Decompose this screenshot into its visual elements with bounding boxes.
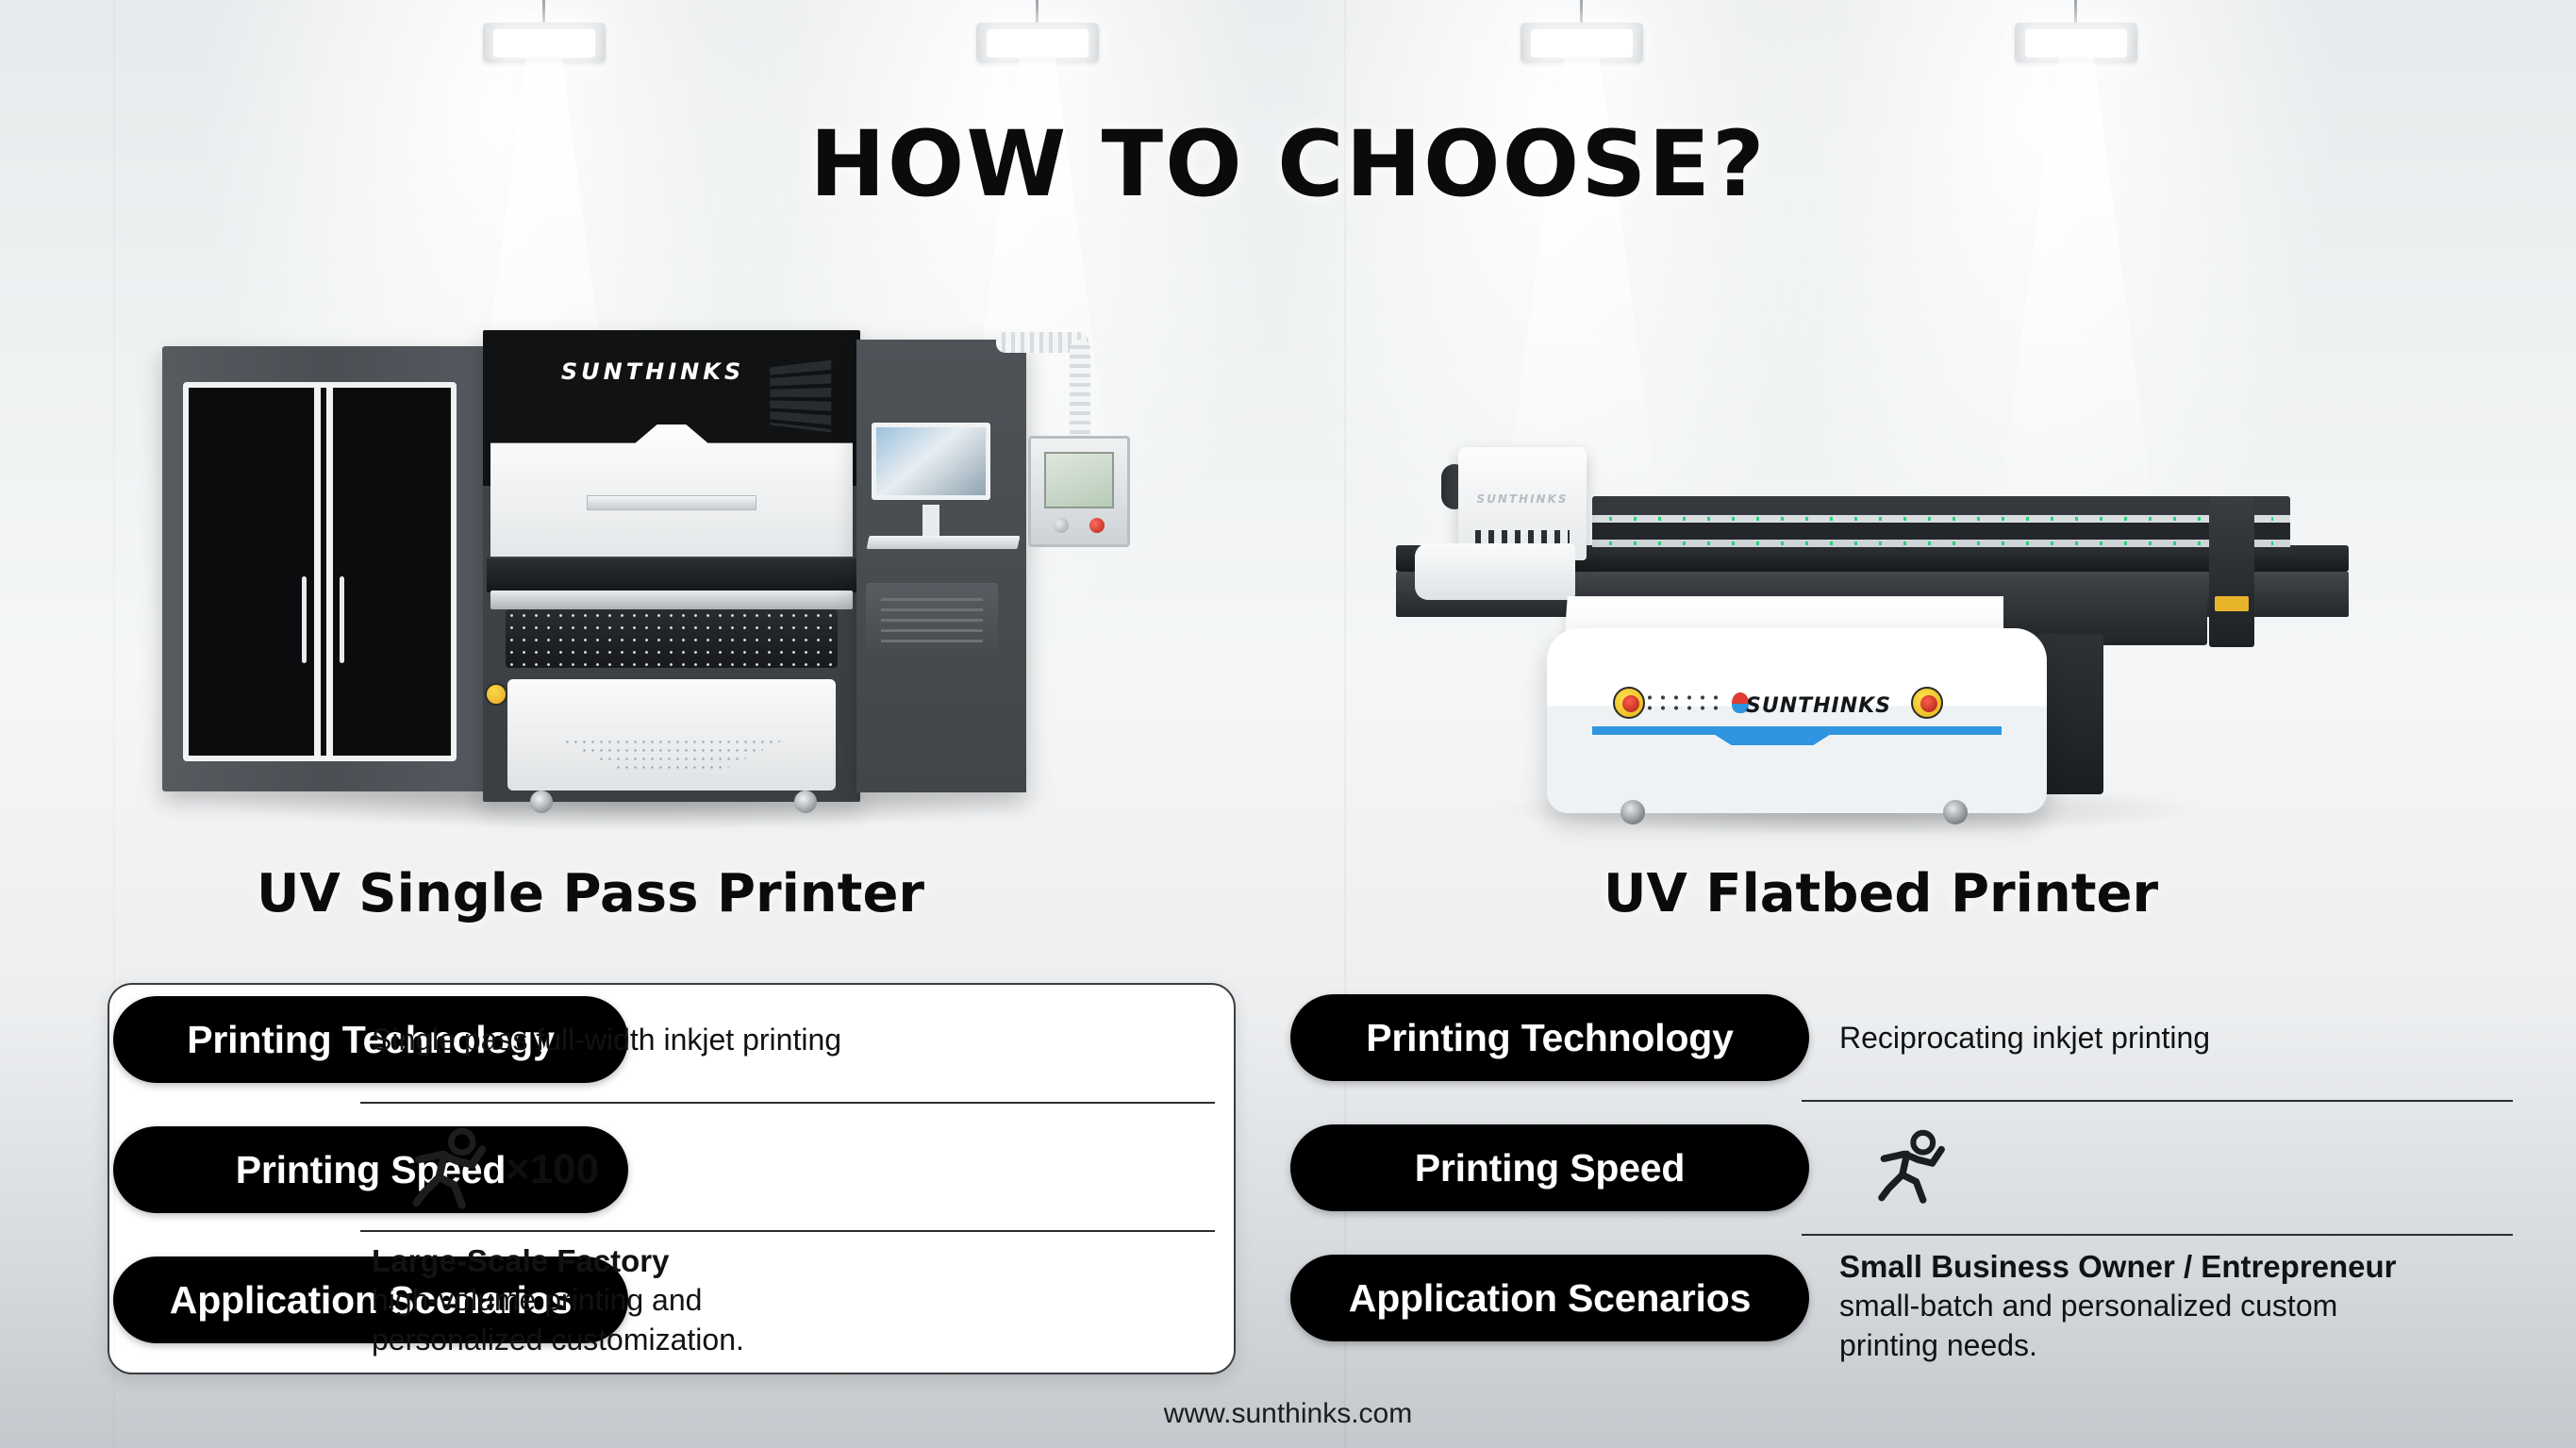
glass-doors <box>183 382 457 761</box>
spec-key-printing-speed[interactable]: Printing Speed <box>1290 1124 1809 1211</box>
control-panel-screen <box>1044 452 1114 508</box>
spec-divider <box>360 1102 1215 1104</box>
operator-monitor <box>872 423 990 500</box>
warning-label <box>2215 596 2249 611</box>
gantry-endcap <box>2209 496 2254 647</box>
emergency-stop-icon <box>1089 518 1105 533</box>
spec-card-left: Printing Technology Single pass full-wid… <box>108 983 1236 1374</box>
printer-main-body: SUNTHINKS <box>483 330 860 802</box>
running-person-icon <box>411 1126 492 1213</box>
roller-bar <box>490 591 853 609</box>
lamp-cord <box>1036 0 1039 25</box>
spec-value-scenario-body: high-volume printing and personalized cu… <box>372 1281 1221 1359</box>
caster-wheel <box>794 791 817 813</box>
product-title-right: UV Flatbed Printer <box>1604 863 2158 924</box>
spec-value-scenario-heading: Small Business Owner / Entrepreneur <box>1839 1247 2397 1288</box>
spec-value-scenario-body: small-batch and personalized custom prin… <box>1839 1287 2556 1365</box>
spec-divider <box>1802 1234 2513 1236</box>
speed-indicator: ×100 <box>411 1126 599 1213</box>
print-carriage <box>487 558 856 592</box>
spec-value-printing-technology: Single pass full-width inkjet printing <box>372 1021 1221 1060</box>
side-vent-drawer <box>866 583 998 662</box>
brand-wordmark: SUNTHINKS <box>1458 492 1587 506</box>
page-title: HOW TO CHOOSE? <box>0 111 2576 217</box>
enclosure-cabinet <box>162 346 492 791</box>
gantry-beam <box>1592 496 2290 555</box>
lamp-cord <box>1580 0 1583 25</box>
spec-card-right: Printing Technology Reciprocating inkjet… <box>1287 983 2513 1374</box>
monitor-stand <box>922 505 939 537</box>
spec-divider <box>1802 1100 2513 1102</box>
spec-divider <box>360 1230 1215 1232</box>
exhaust-duct <box>1070 340 1090 441</box>
spec-key-application-scenarios[interactable]: Application Scenarios <box>1290 1255 1809 1341</box>
lamp-panel <box>493 29 595 58</box>
spec-key-printing-technology[interactable]: Printing Technology <box>1290 994 1809 1081</box>
speed-multiplier: ×100 <box>506 1146 599 1193</box>
emergency-stop-icon <box>485 683 507 706</box>
control-panel-box <box>1028 436 1130 547</box>
vent-grille <box>770 360 831 433</box>
keyboard <box>867 536 1021 549</box>
lamp-cord <box>542 0 545 25</box>
lower-access-door <box>507 679 836 791</box>
product-image-uv-flatbed-printer: SUNTHINKS SUNTHINKS <box>1396 406 2377 821</box>
caster-wheel <box>530 791 553 813</box>
lamp-panel <box>987 29 1089 58</box>
head-base-skirt <box>1415 543 1575 600</box>
door-handle <box>302 576 307 663</box>
emergency-stop-icon <box>1911 687 1943 719</box>
side-electronics-box <box>2037 634 2103 794</box>
spec-value-scenario-heading: Large-Scale Factory <box>372 1241 669 1282</box>
control-column <box>856 340 1026 792</box>
lamp-panel <box>2025 29 2127 58</box>
spec-value-printing-technology: Reciprocating inkjet printing <box>1839 1019 2500 1058</box>
lamp-cord <box>2074 0 2077 25</box>
product-image-uv-single-pass-printer: SUNTHINKS <box>162 330 1096 821</box>
caster-wheel <box>1620 800 1645 824</box>
accent-stripe <box>1592 726 2002 745</box>
speed-indicator <box>1877 1124 1964 1211</box>
product-title-left: UV Single Pass Printer <box>257 863 924 924</box>
caster-wheel <box>1943 800 1968 824</box>
door-handle <box>340 576 344 663</box>
studio-background: HOW TO CHOOSE? SUNTHINKS <box>0 0 2576 1448</box>
panel-button <box>1054 518 1069 533</box>
perforated-conveyor <box>506 609 838 668</box>
brand-wordmark: SUNTHINKS <box>540 358 766 385</box>
running-person-icon <box>1877 1127 1951 1208</box>
media-slot <box>587 495 756 510</box>
printer-cabinet: SUNTHINKS <box>1547 628 2047 813</box>
lamp-panel <box>1531 29 1633 58</box>
front-panel <box>490 424 853 557</box>
brand-wordmark: SUNTHINKS <box>1547 694 2047 718</box>
website-url[interactable]: www.sunthinks.com <box>0 1398 2576 1430</box>
